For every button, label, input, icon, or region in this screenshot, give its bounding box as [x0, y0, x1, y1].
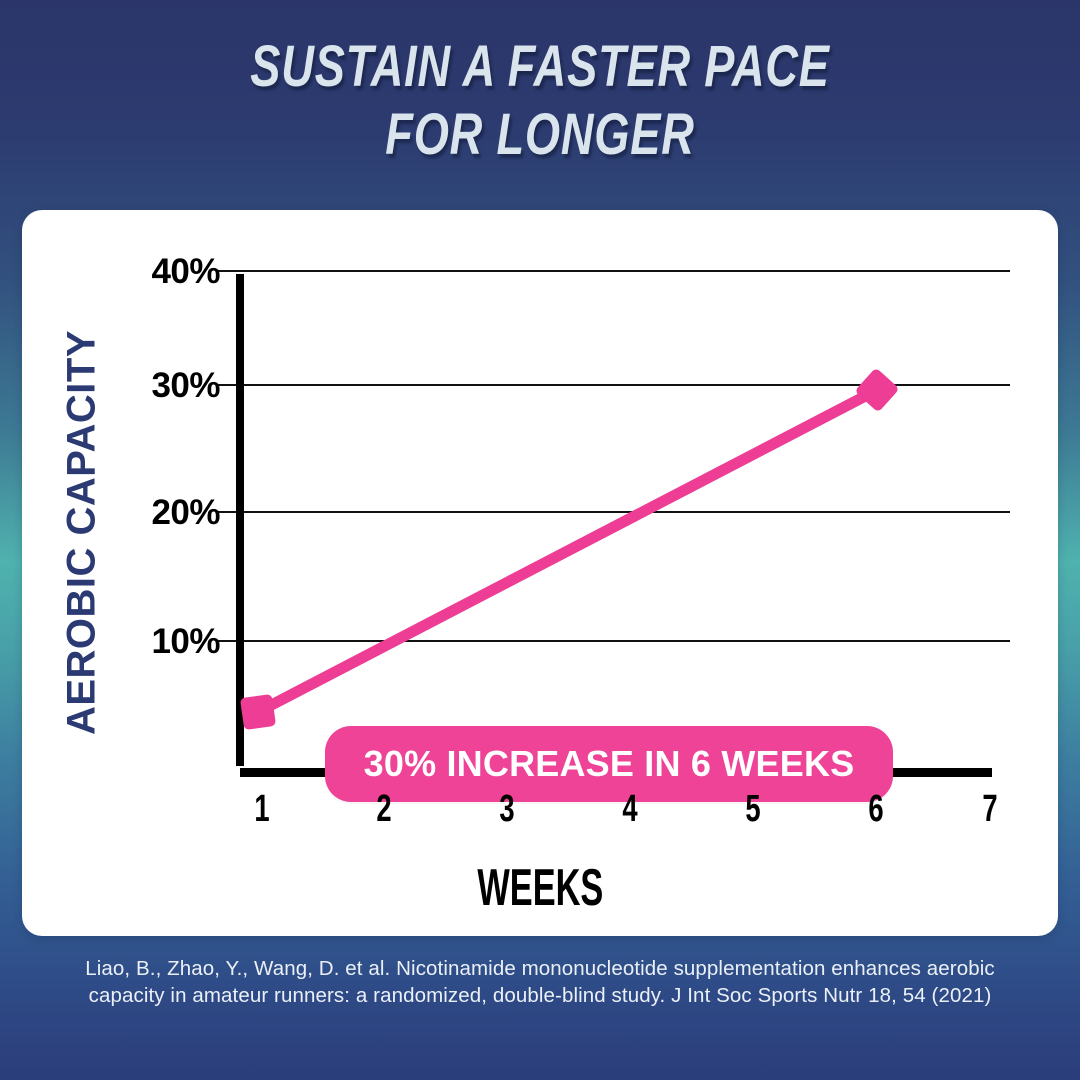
data-point-week-6	[854, 367, 899, 412]
page-title: SUSTAIN A FASTER PACE FOR LONGER	[0, 38, 1080, 164]
x-tick-label-2: 2	[362, 788, 405, 831]
citation-text: Liao, B., Zhao, Y., Wang, D. et al. Nico…	[50, 955, 1030, 1009]
title-line-1: SUSTAIN A FASTER PACE	[119, 38, 961, 96]
x-tick-label-7: 7	[968, 788, 1011, 831]
x-tick-label-6: 6	[854, 788, 897, 831]
chart-card: AEROBIC CAPACITY 40% 30% 20% 10% 30% INC…	[22, 210, 1058, 936]
data-point-week-1	[240, 694, 276, 730]
x-tick-label-4: 4	[608, 788, 651, 831]
chart-plot-area: AEROBIC CAPACITY 40% 30% 20% 10% 30% INC…	[22, 210, 1058, 936]
title-line-2: FOR LONGER	[119, 106, 961, 164]
x-tick-label-5: 5	[731, 788, 774, 831]
x-tick-label-3: 3	[485, 788, 528, 831]
x-axis-label: WEEKS	[22, 858, 1058, 918]
series-line-aerobic-capacity	[258, 390, 877, 712]
x-tick-label-1: 1	[240, 788, 283, 831]
data-series-layer	[22, 210, 1058, 936]
callout-badge-text: 30% INCREASE IN 6 WEEKS	[364, 743, 855, 785]
x-axis-label-text: WEEKS	[477, 858, 603, 918]
